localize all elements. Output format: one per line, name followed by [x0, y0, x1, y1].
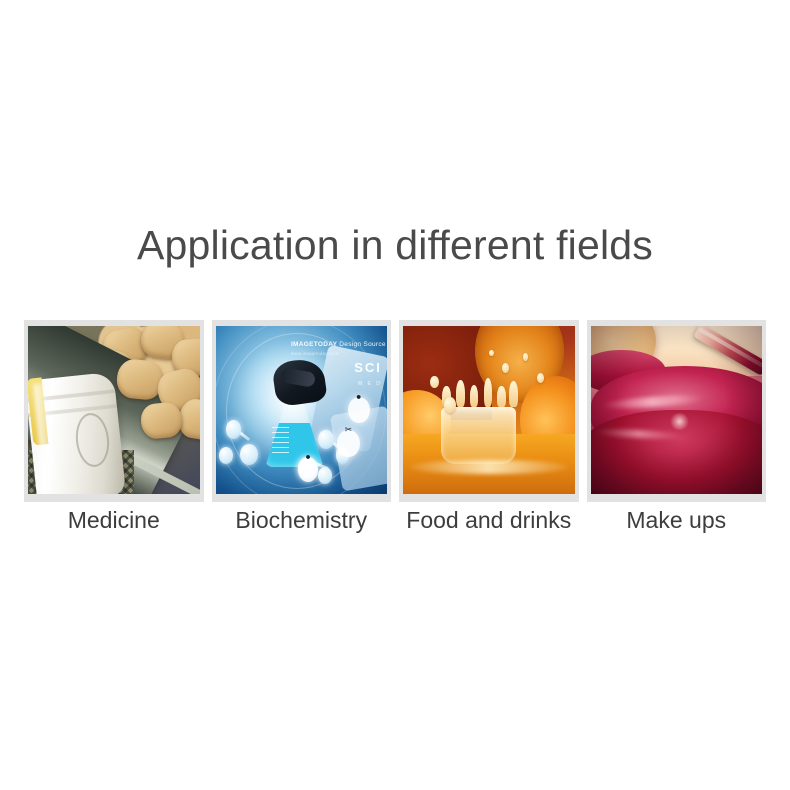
flask-graduations [272, 427, 289, 457]
gallery-tile-food-and-drinks[interactable] [399, 320, 579, 502]
gallery-tile-make-ups[interactable] [587, 320, 767, 502]
medicine-photo [28, 326, 200, 494]
microscope-badge-icon: ✂ [337, 430, 359, 457]
watermark-small-text: M E D [358, 381, 382, 387]
vignette-overlay [591, 326, 763, 494]
splash-spike [509, 381, 518, 406]
image-gallery: ● ✂ ● IMAGETODAY Design Source www.image… [24, 320, 766, 502]
gallery-labels: Medicine Biochemistry Food and drinks Ma… [24, 505, 766, 541]
juice-highlight [410, 460, 568, 473]
molecule-icon [219, 447, 233, 464]
molecule-icon [226, 420, 241, 438]
gallery-tile-medicine[interactable] [24, 320, 204, 502]
make-ups-photo [591, 326, 763, 494]
splash-spike [484, 378, 493, 407]
splash-spike [497, 386, 506, 406]
test-tube-badge-icon: ● [348, 397, 370, 424]
watermark-brand: IMAGETODAY Design Source [291, 341, 386, 348]
gallery-label-make-ups: Make ups [587, 505, 767, 541]
gallery-tile-biochemistry[interactable]: ● ✂ ● IMAGETODAY Design Source www.image… [212, 320, 392, 502]
watermark-big-text: SCI [354, 360, 382, 375]
gallery-label-medicine: Medicine [24, 505, 204, 541]
molecule-icon [318, 467, 332, 484]
biochemistry-photo: ● ✂ ● IMAGETODAY Design Source www.image… [216, 326, 388, 494]
splash-crown [441, 407, 516, 464]
application-fields-banner: Application in different fields [0, 0, 790, 790]
watermark-subline: www.imagetoday.co.kr [291, 351, 340, 356]
splash-spike [470, 385, 479, 407]
droplet-icon [489, 350, 494, 357]
food-and-drinks-photo [403, 326, 575, 494]
page-title: Application in different fields [0, 222, 790, 269]
droplet-icon [537, 373, 544, 383]
molecule-icon [318, 430, 333, 448]
gallery-label-biochemistry: Biochemistry [212, 505, 392, 541]
splash-spike [456, 380, 465, 407]
gallery-label-food-and-drinks: Food and drinks [399, 505, 579, 541]
